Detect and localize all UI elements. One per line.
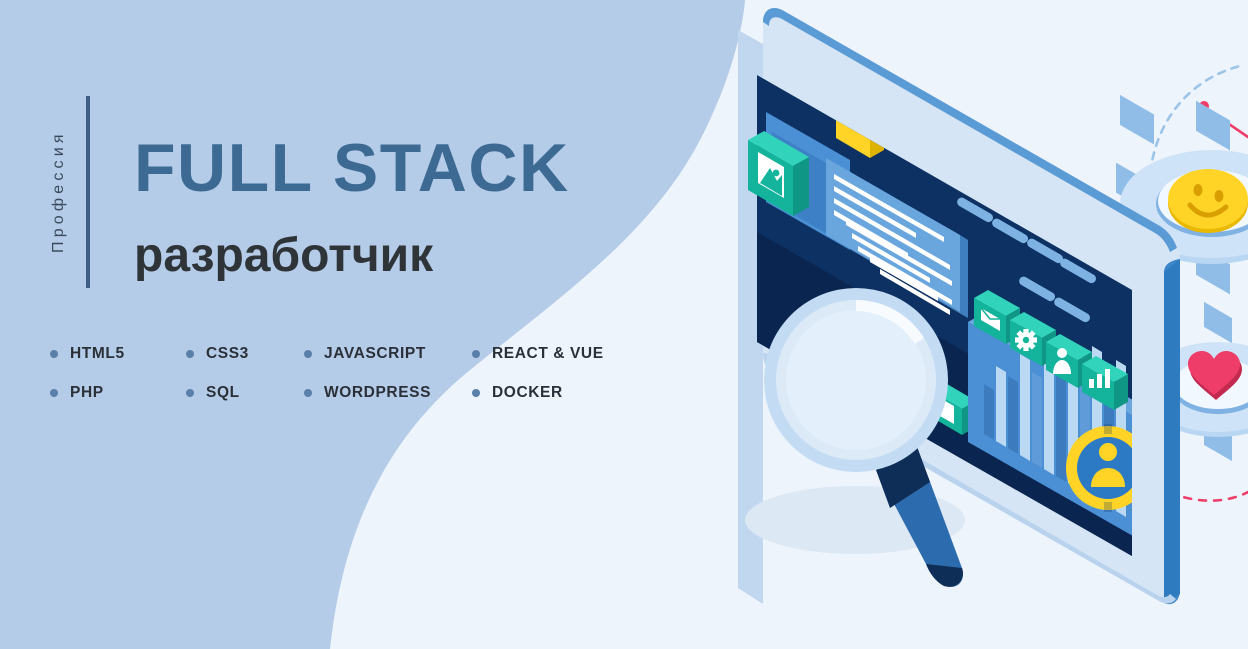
monitor-frame-edge-bottom [763,353,1176,603]
tech-label: SQL [206,384,240,402]
list-item: WORDPRESS [304,384,472,402]
gear-group [1116,66,1248,501]
tech-label: CSS3 [206,345,249,363]
technology-list: HTML5 CSS3 JAVASCRIPT REACT & VUE PHP SQ… [50,334,670,412]
list-item: REACT & VUE [472,345,670,363]
yellow-block [836,103,884,158]
bullet-dot-icon [50,350,58,358]
user-avatar-badge [1066,424,1150,512]
bullet-dot-icon [304,350,312,358]
screen-sidebar-panel [766,112,850,250]
list-item: JAVASCRIPT [304,345,472,363]
tech-label: JAVASCRIPT [324,345,426,363]
teal-chip [916,374,976,435]
bullet-dot-icon [472,350,480,358]
heart-icon [1188,351,1242,400]
tech-label: REACT & VUE [492,345,604,363]
gear-heart [1140,298,1248,500]
person-icon [1046,334,1092,388]
list-item: SQL [186,384,304,402]
magnifier-shadow [745,486,965,554]
bullet-dot-icon [50,389,58,397]
envelope-icon [974,290,1020,344]
bar-chart [984,340,1126,517]
magnifier-highlight [856,300,924,344]
screen-nav-dashes [956,196,1098,324]
eyebrow-block: Профессия [46,96,90,288]
card-thumb [782,358,800,382]
bullet-dot-icon [186,389,194,397]
page-title: FULL STACK [134,134,570,202]
pink-pointer-line [1204,107,1248,137]
vertical-rule [86,96,90,288]
gear-smiley [1116,95,1248,298]
pink-dot-icon [1095,228,1125,260]
magnifier-ring-inner [776,300,936,460]
monitor-frame-edge-top [763,8,1177,252]
smiley-icon [1168,169,1248,233]
monitor-frame-edge-right [1164,259,1180,604]
dashed-arc-pink-icon [1144,478,1248,501]
page-subtitle: разработчик [134,232,570,280]
screen-sidebar-panel-inner [772,132,852,248]
screen-search-card [782,358,896,452]
tech-label: WORDPRESS [324,384,431,402]
banner-root: Профессия FULL STACK разработчик HTML5 C… [0,0,1248,649]
pink-arc-dot [1140,473,1149,482]
pink-pointer-dot [1199,101,1209,111]
image-icon [748,131,809,216]
list-item: DOCKER [472,384,670,402]
monitor-frame-side [1164,259,1180,603]
bullet-dot-icon [472,389,480,397]
left-content-column: Профессия FULL STACK разработчик HTML5 C… [0,0,700,649]
search-bar: WWW [810,328,912,414]
tech-label: HTML5 [70,345,125,363]
tech-label: PHP [70,384,104,402]
isometric-monitor: WWW [738,8,1180,604]
magnifier-handle [876,444,963,587]
magnifier [745,288,965,587]
monitor-screen [757,75,1132,556]
teal-dot-icon [1072,215,1102,247]
monitor-frame [763,8,1180,604]
magnifier-lens [786,310,926,450]
window-dots [1072,215,1148,273]
screen-text-block [826,158,968,318]
screen-lower-shade [757,232,1132,560]
bar-chart-icon [1082,356,1128,410]
eyebrow-label: Профессия [46,96,72,288]
tech-label: DOCKER [492,384,563,402]
screen-chart-panel [968,314,1154,540]
search-bar-label: WWW [824,357,876,398]
monitor-side-slab [738,30,763,604]
title-group: FULL STACK разработчик [134,134,570,280]
list-item: HTML5 [50,345,186,363]
dashed-arc-blue-icon [1150,66,1240,215]
list-item: CSS3 [186,345,304,363]
bullet-dot-icon [186,350,194,358]
list-item: PHP [50,384,186,402]
bullet-dot-icon [304,389,312,397]
pink-block [858,81,912,148]
yellow-dot-icon [1118,241,1148,273]
gear-icon [1010,312,1056,366]
magnifier-ring-outer [764,288,948,472]
